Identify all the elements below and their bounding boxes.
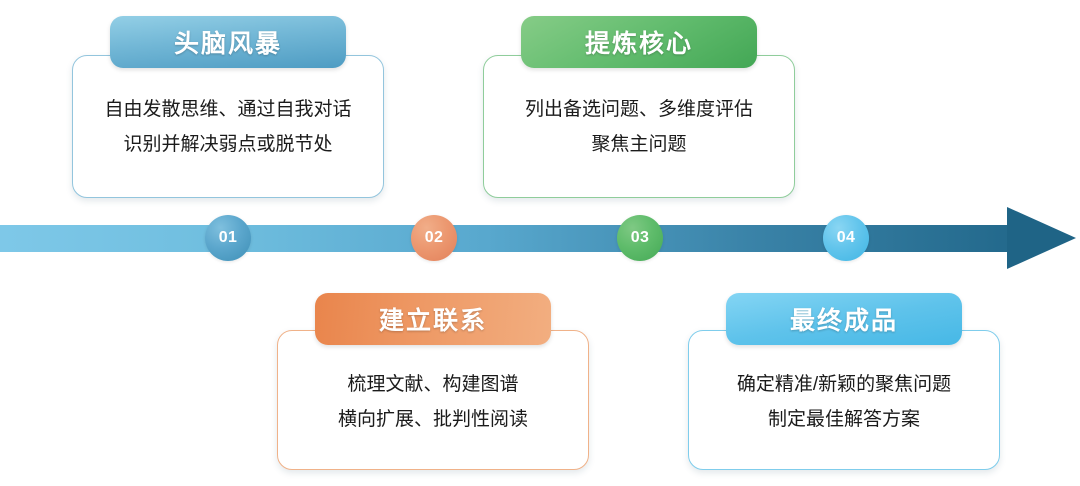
step-card-01-line-1: 自由发散思维、通过自我对话 <box>87 92 369 127</box>
timeline-node-01[interactable]: 01 <box>205 215 251 261</box>
step-card-04-line-1: 确定精准/新颖的聚焦问题 <box>703 367 985 402</box>
step-card-04-body: 确定精准/新颖的聚焦问题 制定最佳解答方案 <box>689 331 999 455</box>
timeline-node-label: 04 <box>837 229 855 247</box>
timeline-node-03[interactable]: 03 <box>617 215 663 261</box>
timeline-node-label: 03 <box>631 229 649 247</box>
timeline-node-label: 02 <box>425 229 443 247</box>
step-card-03-line-2: 聚焦主问题 <box>498 127 780 162</box>
timeline-node-04[interactable]: 04 <box>823 215 869 261</box>
step-card-04-title: 最终成品 <box>726 293 962 345</box>
step-card-01-body: 自由发散思维、通过自我对话 识别并解决弱点或脱节处 <box>73 56 383 180</box>
step-card-02-line-2: 横向扩展、批判性阅读 <box>292 402 574 437</box>
process-timeline-diagram: 01 02 03 04 头脑风暴 自由发散思维、通过自我对话 识别并解决弱点或脱… <box>0 0 1080 486</box>
step-card-02-line-1: 梳理文献、构建图谱 <box>292 367 574 402</box>
timeline-arrow-icon <box>1007 207 1076 269</box>
step-card-03[interactable]: 提炼核心 列出备选问题、多维度评估 聚焦主问题 <box>483 55 795 198</box>
step-card-03-line-1: 列出备选问题、多维度评估 <box>498 92 780 127</box>
step-card-01[interactable]: 头脑风暴 自由发散思维、通过自我对话 识别并解决弱点或脱节处 <box>72 55 384 198</box>
step-card-04-line-2: 制定最佳解答方案 <box>703 402 985 437</box>
step-card-03-title: 提炼核心 <box>521 16 757 68</box>
step-card-01-title: 头脑风暴 <box>110 16 346 68</box>
step-card-03-body: 列出备选问题、多维度评估 聚焦主问题 <box>484 56 794 180</box>
step-card-04[interactable]: 最终成品 确定精准/新颖的聚焦问题 制定最佳解答方案 <box>688 330 1000 470</box>
timeline-node-label: 01 <box>219 229 237 247</box>
step-card-02-title: 建立联系 <box>315 293 551 345</box>
timeline-node-02[interactable]: 02 <box>411 215 457 261</box>
step-card-02-body: 梳理文献、构建图谱 横向扩展、批判性阅读 <box>278 331 588 455</box>
step-card-02[interactable]: 建立联系 梳理文献、构建图谱 横向扩展、批判性阅读 <box>277 330 589 470</box>
step-card-01-line-2: 识别并解决弱点或脱节处 <box>87 127 369 162</box>
